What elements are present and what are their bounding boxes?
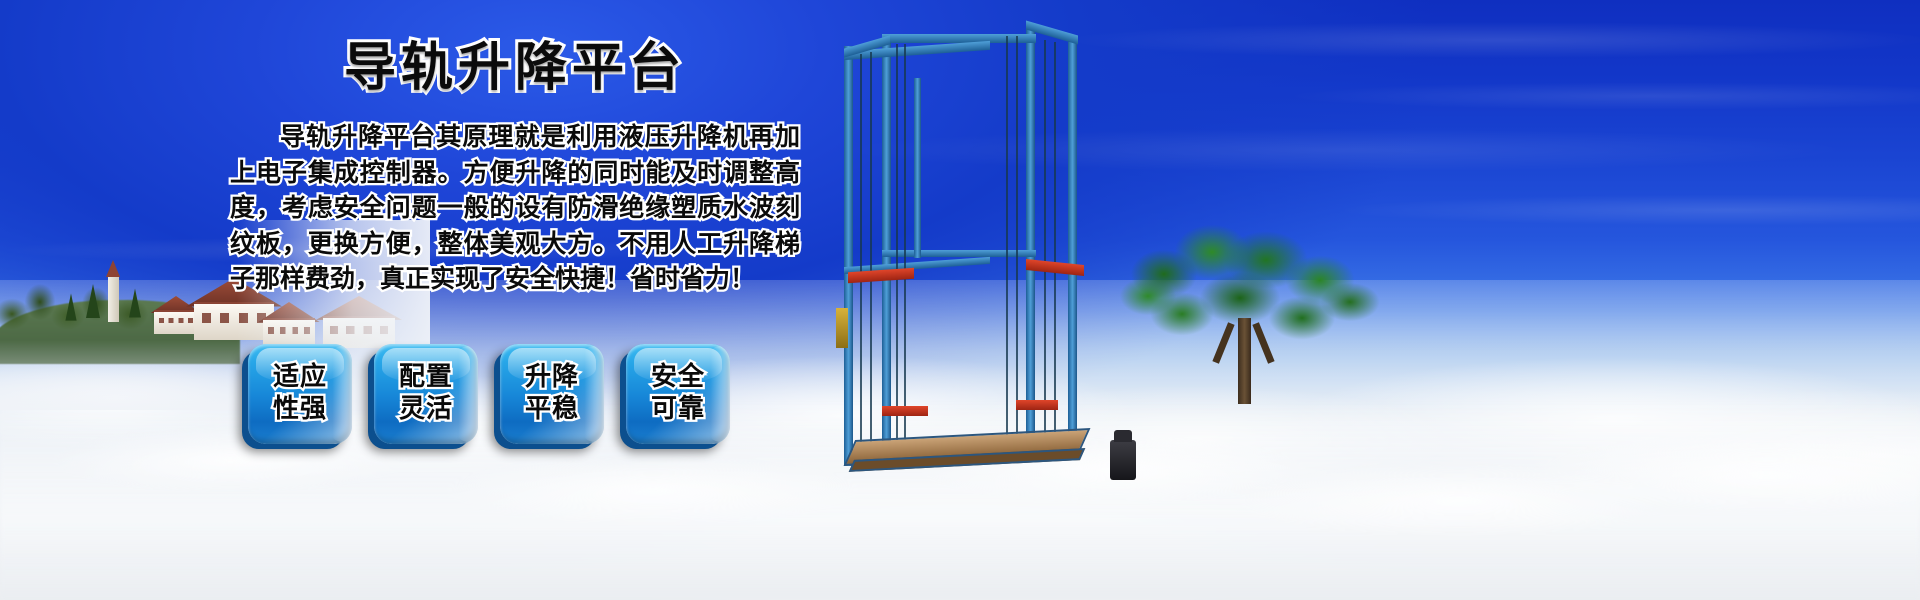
feature-label-line2: 性强 [273,394,327,426]
broadleaf-tree [1120,222,1380,412]
pine-tree-icon [86,284,100,318]
feature-label-line2: 灵活 [399,394,453,426]
feature-button-shengjiangpingwen[interactable]: 升降 平稳 [500,344,604,444]
feature-button-shiyingxingqiang[interactable]: 适应 性强 [248,344,352,444]
control-box [836,308,848,348]
frame-post-right [1068,42,1077,442]
village-house [258,302,320,346]
feature-label-line1: 安全 [651,362,705,394]
guide-cable [1054,42,1056,436]
feature-button-peizhilinghuo[interactable]: 配置 灵活 [374,344,478,444]
village-house [316,296,402,348]
frame-mid-post [914,78,921,258]
guide-cable [860,54,862,454]
feature-label-line1: 配置 [399,362,453,394]
guide-cable [1016,36,1018,436]
description-paragraph: 导轨升降平台其原理就是利用液压升降机再加上电子集成控制器。方便升降的同时能及时调… [230,119,800,297]
guide-cable [904,44,906,448]
frame-post-right-inner [1026,28,1035,436]
church-steeple [108,276,119,322]
feature-label-line1: 升降 [525,362,579,394]
frame-post-left-inner [882,34,891,452]
feature-label-line1: 适应 [273,362,327,394]
pine-tree-icon [65,293,76,320]
feature-label-line2: 平稳 [525,394,579,426]
frame-post-left [844,46,853,466]
guide-cable [1044,40,1046,436]
guide-rail-lift-platform [830,18,1130,488]
guide-cable [870,52,872,452]
guide-cable [1006,36,1008,436]
text-block: 导轨升降平台 导轨升降平台其原理就是利用液压升降机再加上电子集成控制器。方便升降… [230,40,800,297]
feature-label-line2: 可靠 [651,394,705,426]
page-title: 导轨升降平台 [230,40,800,97]
carriage-bar-front-right [1016,400,1058,410]
guide-cable [896,44,898,448]
hydraulic-pump-unit [1110,440,1136,480]
feature-button-anquankekao[interactable]: 安全 可靠 [626,344,730,444]
carriage-bar-front [882,406,928,416]
pine-tree-icon [129,289,141,318]
feature-button-row: 适应 性强 配置 灵活 升降 平稳 安全 可靠 [248,344,730,444]
promo-banner: 导轨升降平台 导轨升降平台其原理就是利用液压升降机再加上电子集成控制器。方便升降… [0,0,1920,600]
house-wall [263,318,315,346]
frame-top-beam-front [882,34,1036,43]
tree-trunk [1238,318,1251,404]
